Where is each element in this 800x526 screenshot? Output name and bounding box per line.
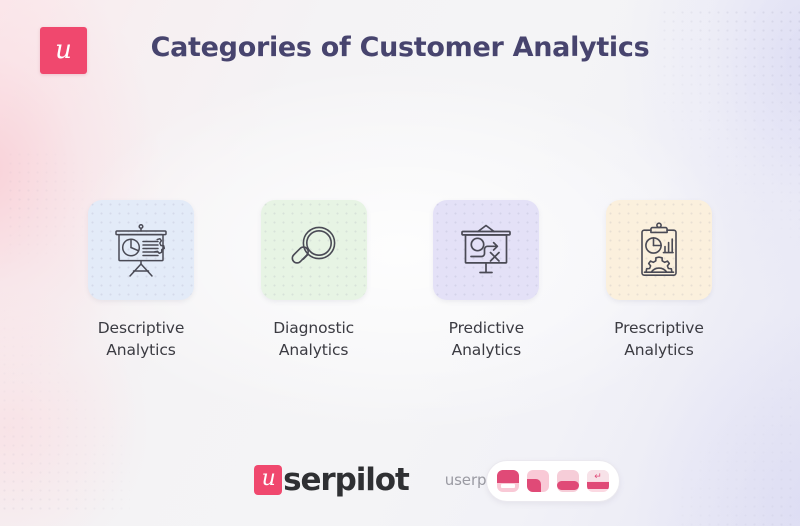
userpilot-wordmark: u serpilot (254, 462, 409, 498)
footer: u serpilot userpilot.com (0, 456, 800, 504)
page-title: Categories of Customer Analytics (0, 32, 800, 63)
card-label-descriptive: Descriptive Analytics (98, 317, 185, 362)
category-predictive: Predictive Analytics (417, 200, 555, 362)
icon-card-prescriptive (606, 200, 712, 300)
card-label-predictive: Predictive Analytics (449, 317, 524, 362)
presentation-board-pie-chart-gear-icon (110, 220, 172, 280)
wordmark-text: serpilot (283, 462, 409, 498)
card-label-line1: Diagnostic (273, 317, 354, 339)
card-label-line1: Prescriptive (614, 317, 704, 339)
category-diagnostic: Diagnostic Analytics (245, 200, 383, 362)
slideout-pattern-icon (527, 470, 549, 492)
wordmark-u-glyph: u (262, 468, 275, 490)
icon-card-descriptive (88, 200, 194, 300)
card-label-line2: Analytics (273, 339, 354, 361)
infographic-canvas: u Categories of Customer Analytics (0, 0, 800, 526)
clipboard-charts-gear-icon (633, 219, 685, 281)
banner-pattern-icon (557, 470, 579, 492)
card-label-line2: Analytics (614, 339, 704, 361)
card-label-diagnostic: Diagnostic Analytics (273, 317, 354, 362)
icon-card-diagnostic (261, 200, 367, 300)
icon-card-predictive (433, 200, 539, 300)
card-label-line1: Descriptive (98, 317, 185, 339)
category-prescriptive: Prescriptive Analytics (590, 200, 728, 362)
wordmark-u-badge-icon: u (254, 465, 282, 495)
categories-row: Descriptive Analytics Diagnostic (72, 200, 728, 362)
userpilot-pattern-widget: ↵ (486, 460, 620, 502)
card-label-line1: Predictive (449, 317, 524, 339)
modal-pattern-icon (497, 470, 519, 492)
tooltip-glyph: ↵ (587, 471, 609, 481)
magnifying-glass-icon (285, 221, 343, 279)
strategy-board-arrow-icon (456, 221, 516, 279)
tooltip-pattern-icon: ↵ (587, 470, 609, 492)
card-label-line2: Analytics (98, 339, 185, 361)
card-label-line2: Analytics (449, 339, 524, 361)
card-label-prescriptive: Prescriptive Analytics (614, 317, 704, 362)
category-descriptive: Descriptive Analytics (72, 200, 210, 362)
